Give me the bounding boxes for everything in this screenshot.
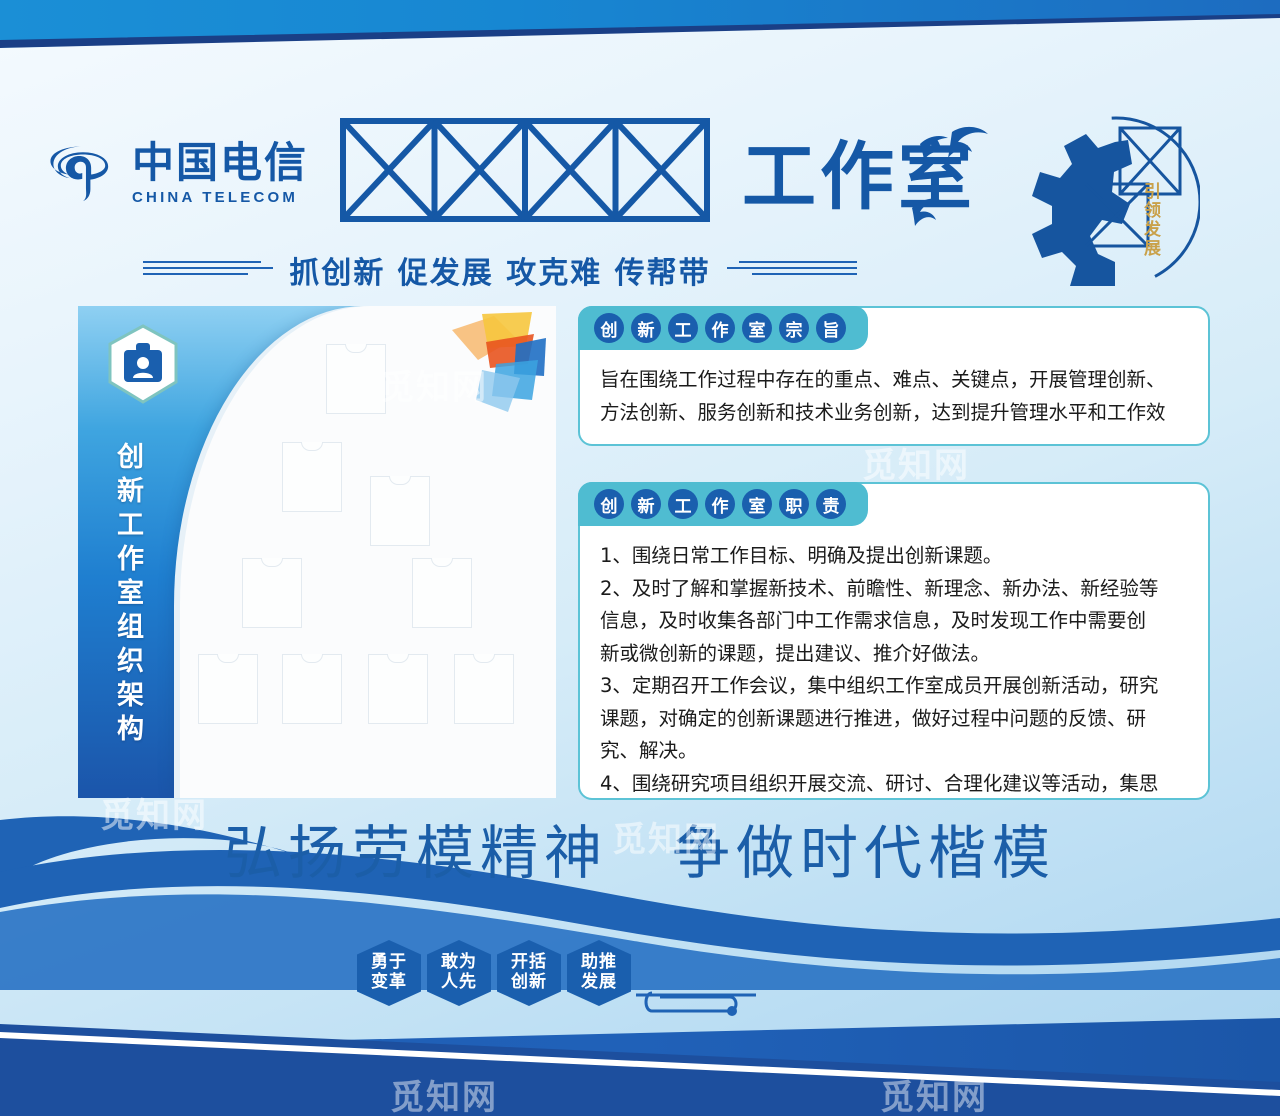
value-badge-line1: 勇于 bbox=[371, 953, 407, 973]
value-badge[interactable]: 助推 发展 bbox=[567, 940, 631, 1006]
title-char-badge: 职 bbox=[779, 489, 809, 519]
value-badge-line2: 发展 bbox=[581, 973, 617, 993]
duty-line: 4、围绕研究项目组织开展交流、研讨、合理化建议等活动，集思 bbox=[600, 768, 1190, 800]
org-box-node[interactable] bbox=[242, 558, 302, 628]
duty-line: 课题，对确定的创新课题进行推进，做好过程中问题的反馈、研 bbox=[600, 703, 1190, 735]
value-badge-line1: 助推 bbox=[581, 953, 617, 973]
org-box-node[interactable] bbox=[326, 344, 386, 414]
poster-canvas: 中国电信 CHINA TELECOM 工作室 bbox=[0, 0, 1280, 1116]
title-char-badge: 新 bbox=[631, 489, 661, 519]
title-char-badge: 作 bbox=[705, 313, 735, 343]
org-box-node[interactable] bbox=[282, 442, 342, 512]
duty-panel: 创 新 工 作 室 职 责 1、围绕日常工作目标、明确及提出创新课题。 2、及时… bbox=[578, 482, 1210, 800]
paperclip-decoration-icon bbox=[632, 985, 762, 1019]
title-char-badge: 室 bbox=[742, 489, 772, 519]
purpose-panel-body: 旨在围绕工作过程中存在的重点、难点、关键点，开展管理创新、 方法创新、服务创新和… bbox=[580, 360, 1208, 436]
header-slogan-row: 抓创新 促发展 攻克难 传帮带 bbox=[0, 248, 1000, 292]
title-char-badge: 新 bbox=[631, 313, 661, 343]
value-badge[interactable]: 开括 创新 bbox=[497, 940, 561, 1006]
org-box-node[interactable] bbox=[368, 654, 428, 724]
origami-decoration-icon bbox=[442, 308, 550, 416]
duty-panel-header: 创 新 工 作 室 职 责 bbox=[578, 482, 868, 526]
org-box-node[interactable] bbox=[370, 476, 430, 546]
org-box-node[interactable] bbox=[198, 654, 258, 724]
title-char-badge: 工 bbox=[668, 489, 698, 519]
gear-side-label: 引领发展 bbox=[1138, 182, 1163, 258]
value-badge-line1: 开括 bbox=[511, 953, 547, 973]
duty-line: 1、围绕日常工作目标、明确及提出创新课题。 bbox=[600, 540, 1190, 572]
china-telecom-swoosh-icon bbox=[46, 136, 120, 210]
brand-name-cn: 中国电信 bbox=[132, 142, 308, 184]
value-badge-line2: 变革 bbox=[371, 973, 407, 993]
title-char-badge: 室 bbox=[742, 313, 772, 343]
duty-panel-body: 1、围绕日常工作目标、明确及提出创新课题。 2、及时了解和掌握新技术、前瞻性、新… bbox=[580, 536, 1208, 790]
title-char-badge: 旨 bbox=[816, 313, 846, 343]
duty-line: 信息，及时收集各部门中工作需求信息，及时发现工作中需要创 bbox=[600, 605, 1190, 637]
brand-name-en: CHINA TELECOM bbox=[132, 190, 308, 205]
gear-icon bbox=[1020, 112, 1200, 292]
slogan-lines-left bbox=[143, 261, 273, 279]
value-badge-row: 勇于 变革 敢为 人先 开括 创新 助推 发展 bbox=[357, 940, 631, 1006]
title-char-badge: 创 bbox=[594, 489, 624, 519]
org-chart-panel: 创新工作室组织架构 bbox=[78, 306, 556, 798]
swallow-birds-icon bbox=[890, 118, 1020, 248]
title-char-badge: 工 bbox=[668, 313, 698, 343]
duty-line: 新或微创新的课题，提出建议、推介好做法。 bbox=[600, 638, 1190, 670]
value-badge[interactable]: 敢为 人先 bbox=[427, 940, 491, 1006]
duty-line: 3、定期召开工作会议，集中组织工作室成员开展创新活动，研究 bbox=[600, 670, 1190, 702]
footer-slogan: 弘扬劳模精神 争做时代楷模 bbox=[0, 806, 1280, 890]
title-char-badge: 创 bbox=[594, 313, 624, 343]
value-badge[interactable]: 勇于 变革 bbox=[357, 940, 421, 1006]
purpose-line: 旨在围绕工作过程中存在的重点、难点、关键点，开展管理创新、 bbox=[600, 364, 1190, 396]
slogan-lines-right bbox=[727, 261, 857, 279]
org-box-node[interactable] bbox=[412, 558, 472, 628]
value-badge-line1: 敢为 bbox=[441, 953, 477, 973]
truss-pattern-decoration bbox=[340, 118, 710, 222]
value-badge-line2: 人先 bbox=[441, 973, 477, 993]
org-panel-title: 创新工作室组织架构 bbox=[108, 442, 147, 748]
header-slogan: 抓创新 促发展 攻克难 传帮带 bbox=[289, 248, 710, 292]
value-badge-line2: 创新 bbox=[511, 973, 547, 993]
brand-logo: 中国电信 CHINA TELECOM bbox=[46, 136, 308, 210]
org-box-node[interactable] bbox=[282, 654, 342, 724]
purpose-panel: 创 新 工 作 室 宗 旨 旨在围绕工作过程中存在的重点、难点、关键点，开展管理… bbox=[578, 306, 1210, 446]
title-char-badge: 作 bbox=[705, 489, 735, 519]
duty-line: 究、解决。 bbox=[600, 735, 1190, 767]
title-char-badge: 责 bbox=[816, 489, 846, 519]
id-card-icon bbox=[106, 324, 180, 404]
org-box-node[interactable] bbox=[454, 654, 514, 724]
purpose-panel-header: 创 新 工 作 室 宗 旨 bbox=[578, 306, 868, 350]
title-char-badge: 宗 bbox=[779, 313, 809, 343]
purpose-line: 方法创新、服务创新和技术业务创新，达到提升管理水平和工作效 bbox=[600, 397, 1190, 429]
duty-line: 2、及时了解和掌握新技术、前瞻性、新理念、新办法、新经验等 bbox=[600, 573, 1190, 605]
